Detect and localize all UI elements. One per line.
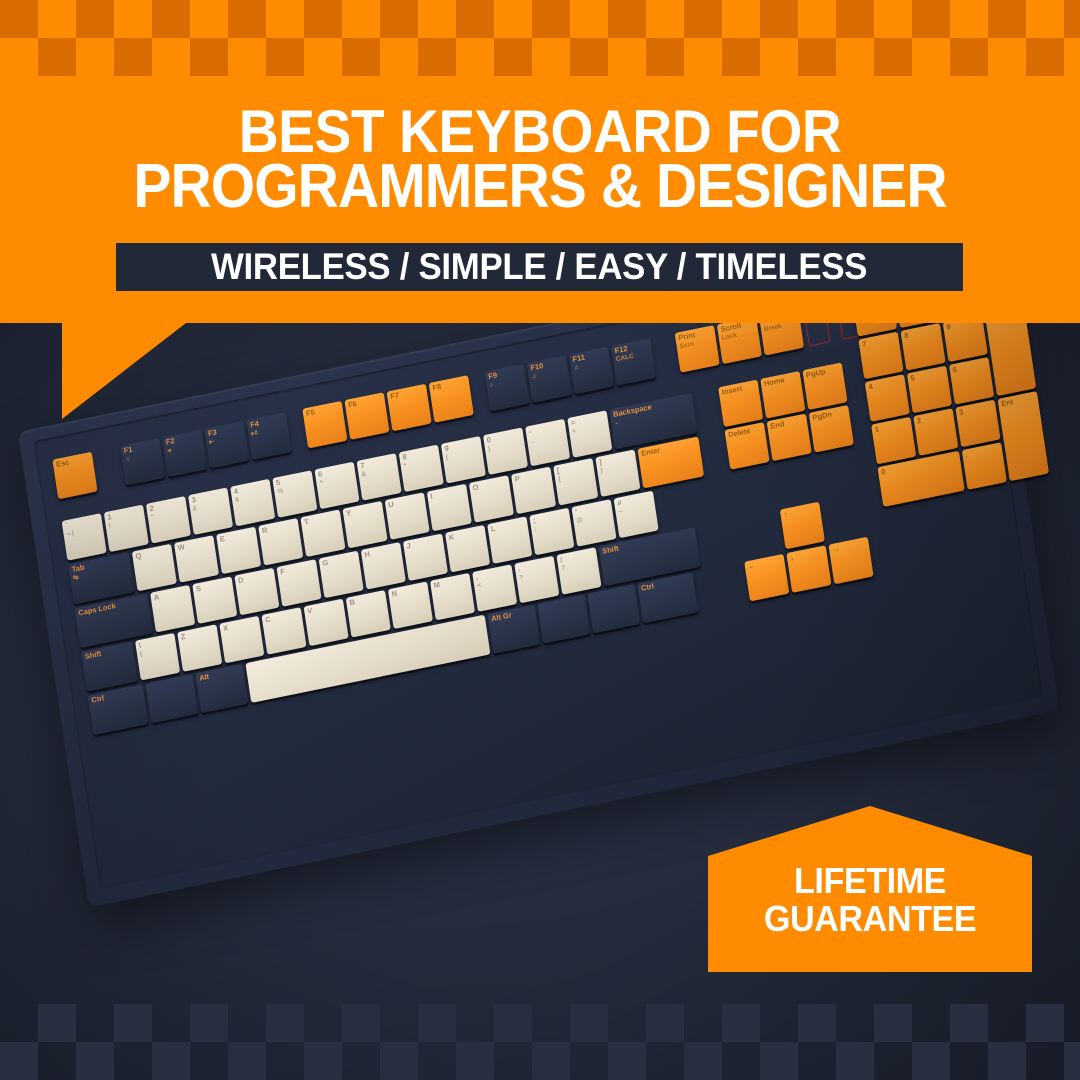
keycap-sublabel: ↹ bbox=[73, 572, 87, 582]
keycap-e[interactable]: E bbox=[216, 527, 261, 575]
keycap-sublabel: ! bbox=[108, 522, 113, 530]
keycap-sublabel: ^ bbox=[319, 479, 324, 487]
keycap-print[interactable]: PrintScrn bbox=[675, 325, 720, 373]
keycap--[interactable]: .> bbox=[514, 556, 559, 604]
keycap-label: = bbox=[570, 418, 576, 428]
keycap-q[interactable]: Q bbox=[132, 544, 177, 592]
keycap-label: 0 bbox=[881, 467, 886, 477]
keycap-label: Esc bbox=[56, 457, 70, 469]
keycap-sublabel: $ bbox=[235, 496, 240, 504]
keycap-f7[interactable]: F7 bbox=[387, 384, 432, 432]
keycap-numpad-3[interactable]: 3 bbox=[955, 400, 1000, 448]
keycap-label: T bbox=[303, 517, 309, 527]
keycap-label: V bbox=[307, 606, 313, 616]
keycap-sublabel: ( bbox=[445, 453, 450, 461]
keycap-numpad--[interactable]: . bbox=[962, 442, 1007, 490]
keycap-4[interactable]: 4$ bbox=[230, 479, 275, 527]
keycap--[interactable]: \| bbox=[135, 633, 180, 681]
keycap-label: 5 bbox=[910, 373, 915, 383]
keycap-label: 4 bbox=[868, 382, 873, 392]
keycap-7[interactable]: 7& bbox=[357, 453, 402, 501]
keycap-sublabel: ◂· bbox=[167, 446, 177, 455]
keycap-sublabel: < bbox=[477, 581, 482, 589]
keycap-arrow-3[interactable]: → bbox=[828, 537, 873, 585]
keycap-numpad-7[interactable]: 7 bbox=[858, 332, 903, 380]
keycap-label: . bbox=[517, 564, 520, 573]
keycap-label: G bbox=[322, 558, 329, 568]
keycap-label: Ctrl bbox=[640, 581, 654, 592]
keycap-label: # bbox=[617, 498, 622, 508]
keycap-sublabel: + bbox=[572, 427, 577, 435]
keycap-label: 2 bbox=[149, 504, 154, 514]
keycap-label: E bbox=[219, 534, 225, 544]
keycap-label: Z bbox=[180, 632, 186, 642]
keycap-label: Enter bbox=[641, 445, 661, 458]
keycap-label: , bbox=[475, 572, 478, 581]
keycap-y[interactable]: Y bbox=[342, 501, 387, 549]
keycap-label: Delete bbox=[728, 426, 751, 439]
keycap-f12[interactable]: F12CALC bbox=[611, 338, 656, 386]
badge-line-1: LIFETIME bbox=[716, 862, 1024, 900]
keycap-label: F bbox=[280, 567, 286, 577]
keycap-sublabel: ♫ bbox=[531, 371, 545, 381]
keycap-sublabel: & bbox=[361, 470, 367, 478]
keycap-label: Q bbox=[135, 551, 142, 561]
keycap-sublabel: * bbox=[403, 462, 408, 470]
keycap-h[interactable]: H bbox=[361, 542, 406, 590]
page-title: BEST KEYBOARD FOR PROGRAMMERS & DESIGNER bbox=[43, 104, 1037, 214]
keycap-label: ↑ bbox=[783, 509, 788, 519]
keycap-m[interactable]: M bbox=[430, 573, 475, 621]
speech-bubble-tail bbox=[0, 323, 260, 433]
keycap--[interactable]: #~ bbox=[614, 491, 659, 539]
keycap-label: 9 bbox=[444, 443, 449, 453]
keycap-label: ← bbox=[747, 561, 756, 571]
keycap-label: S bbox=[195, 584, 201, 594]
keycap-label: ' bbox=[575, 507, 578, 516]
keycap-label: Ctrl bbox=[91, 693, 105, 704]
keycap-label: ↓ bbox=[789, 553, 794, 563]
keycap-3[interactable]: 3£ bbox=[188, 487, 233, 535]
keycap-label: / bbox=[559, 555, 562, 564]
keycap-label: 6 bbox=[318, 469, 323, 479]
keycap-sublabel: @ bbox=[576, 516, 583, 525]
keycap-label: [ bbox=[556, 466, 560, 475]
keycap-label: F6 bbox=[348, 399, 358, 410]
keycap-sublabel: ) bbox=[487, 444, 492, 452]
keycap-t[interactable]: T bbox=[300, 509, 345, 557]
keycap-insert[interactable]: Insert bbox=[718, 380, 763, 428]
keycap-u[interactable]: U bbox=[385, 492, 430, 540]
keycap-label: 2 bbox=[916, 416, 921, 426]
keycap-f[interactable]: F bbox=[276, 559, 321, 607]
keycap-arrow-2[interactable]: ↓ bbox=[786, 545, 831, 593]
keycap-i[interactable]: I bbox=[427, 484, 472, 532]
keycap--[interactable]: `¬ | bbox=[62, 513, 107, 561]
keycap-label: PgUp bbox=[806, 367, 827, 380]
keycap-sublabel: ~ bbox=[618, 508, 623, 516]
keycap-label: K bbox=[448, 532, 455, 542]
keycap-r[interactable]: R bbox=[258, 518, 303, 566]
keycap-label: 4 bbox=[233, 486, 238, 496]
keycap-sublabel: > bbox=[519, 573, 524, 581]
keycap-label: ] bbox=[598, 457, 602, 466]
keycap-label: X bbox=[222, 623, 228, 633]
keycap-x[interactable]: X bbox=[219, 616, 264, 664]
keycap-label: Home bbox=[763, 375, 785, 388]
keycap-label: 1 bbox=[874, 424, 879, 434]
keycap-label: 6 bbox=[952, 365, 957, 375]
keycap-g[interactable]: G bbox=[319, 551, 364, 599]
keycap-pgdn[interactable]: PgDn bbox=[809, 405, 854, 453]
keycap-s[interactable]: S bbox=[192, 576, 237, 624]
keycap--[interactable]: /? bbox=[556, 547, 601, 595]
keycap-f9[interactable]: F9♪ bbox=[485, 364, 530, 412]
keycap-sublabel: ¬ | bbox=[66, 530, 74, 539]
title-line-1: BEST KEYBOARD FOR bbox=[43, 104, 1037, 159]
keycap-label: 8 bbox=[402, 452, 407, 462]
keycap-label: Alt bbox=[199, 672, 210, 683]
keycap-d[interactable]: D bbox=[234, 568, 279, 616]
keycap-f11[interactable]: F11♬ bbox=[569, 347, 614, 395]
keycap-sublabel: : bbox=[534, 525, 538, 533]
keycap-label: → bbox=[832, 544, 841, 554]
keycap-arrow-0[interactable]: ↑ bbox=[780, 502, 825, 550]
keycap--[interactable]: ;: bbox=[529, 508, 574, 556]
keycap-label: \ bbox=[138, 641, 141, 650]
keycap--[interactable]: [{ bbox=[553, 458, 598, 506]
keycap-label: ` bbox=[65, 521, 69, 530]
keycap-p[interactable]: P bbox=[511, 467, 556, 515]
keycap-label: ; bbox=[532, 516, 536, 525]
keycap-0[interactable]: 0) bbox=[483, 427, 528, 475]
keycap-c[interactable]: C bbox=[261, 607, 306, 655]
keycap-5[interactable]: 5% bbox=[272, 470, 317, 518]
keycap-label: Insert bbox=[721, 384, 742, 397]
keycap-label: F5 bbox=[305, 407, 315, 418]
keycap-scroll[interactable]: ScrollLock bbox=[717, 317, 762, 365]
keycap-z[interactable]: Z bbox=[177, 624, 222, 672]
keycap-sublabel: _ bbox=[530, 436, 535, 444]
keycap-label: F8 bbox=[432, 382, 442, 393]
keycap-label: R bbox=[261, 525, 268, 535]
keycap-v[interactable]: V bbox=[304, 599, 349, 647]
keycap-label: 8 bbox=[904, 331, 909, 341]
keycap-home[interactable]: Home bbox=[760, 371, 805, 419]
keycap-sublabel: | bbox=[140, 650, 143, 658]
keycap-numpad-6[interactable]: 6 bbox=[949, 357, 994, 405]
keycap-label: End bbox=[770, 419, 785, 431]
keycap-f6[interactable]: F6 bbox=[344, 392, 389, 440]
subtitle-text: WIRELESS / SIMPLE / EASY / TIMELESS bbox=[211, 246, 867, 288]
keycap-numpad-1[interactable]: 1 bbox=[871, 417, 916, 465]
keycap-label: D bbox=[237, 575, 244, 585]
keycap--[interactable]: ]} bbox=[595, 449, 640, 497]
keycap-label: Shift bbox=[84, 649, 102, 661]
keycap-8[interactable]: 8* bbox=[399, 445, 444, 493]
keycap--[interactable]: =+ bbox=[567, 410, 612, 458]
keycap-label: M bbox=[433, 580, 440, 590]
keycap-esc[interactable]: Esc bbox=[52, 452, 97, 500]
keycap-label: 7 bbox=[862, 339, 867, 349]
keycap-end[interactable]: End bbox=[767, 414, 812, 462]
keycap-a[interactable]: A bbox=[150, 585, 195, 633]
keycap-9[interactable]: 9( bbox=[441, 436, 486, 484]
lifetime-guarantee-badge[interactable]: LIFETIME GUARANTEE bbox=[708, 806, 1032, 972]
keycap-f8[interactable]: F8 bbox=[429, 375, 474, 423]
keycap-label: H bbox=[364, 549, 371, 559]
keycap-l[interactable]: L bbox=[487, 516, 532, 564]
keycap-arrow-1[interactable]: ← bbox=[744, 554, 789, 602]
keycap-w[interactable]: W bbox=[174, 535, 219, 583]
keycap-numpad-4[interactable]: 4 bbox=[865, 374, 910, 422]
keycap-numpad-2[interactable]: 2 bbox=[913, 408, 958, 456]
keycap-6[interactable]: 6^ bbox=[314, 462, 359, 510]
keycap-label: L bbox=[490, 524, 496, 534]
keycap-sublabel: } bbox=[600, 467, 604, 475]
keycap-sublabel: { bbox=[558, 475, 562, 483]
keycap-label: Alt Gr bbox=[491, 610, 513, 623]
keycap-o[interactable]: O bbox=[469, 475, 514, 523]
keycap-f2[interactable]: F2◂· bbox=[162, 429, 207, 477]
keycap-label: 5 bbox=[275, 478, 280, 488]
keycap-label: 1 bbox=[107, 512, 112, 522]
keycap-label: A bbox=[153, 592, 160, 602]
keycap-sublabel: % bbox=[277, 487, 284, 496]
keycap-label: 3 bbox=[191, 495, 196, 505]
keycap-sublabel: ♬ bbox=[573, 362, 586, 372]
keycap-label: I bbox=[430, 492, 433, 501]
subtitle-bar: WIRELESS / SIMPLE / EASY / TIMELESS bbox=[116, 243, 963, 291]
badge-line-2: GUARANTEE bbox=[716, 900, 1024, 938]
keycap-f5[interactable]: F5 bbox=[302, 401, 347, 449]
keycap-label: 3 bbox=[959, 407, 964, 417]
keycap-label: J bbox=[406, 541, 411, 551]
keycap-label: . bbox=[965, 450, 968, 459]
keycap-label: 7 bbox=[360, 461, 365, 471]
keycap-j[interactable]: J bbox=[403, 533, 448, 581]
keycap-n[interactable]: N bbox=[388, 581, 433, 629]
keycap-sublabel: ▸· bbox=[209, 437, 219, 446]
poster-canvas: 🎙 ⍺ ⇳ ⇳ EscF1☼F2◂·F3▸·F4▸‖F5F6F7F8F9♪F10… bbox=[0, 0, 1080, 1080]
keycap-label: C bbox=[265, 614, 272, 624]
keycap-sublabel: £ bbox=[193, 504, 198, 512]
keycap-2[interactable]: 2" bbox=[146, 496, 191, 544]
keycap-sublabel: " bbox=[150, 513, 155, 521]
title-line-2: PROGRAMMERS & DESIGNER bbox=[43, 159, 1037, 214]
keycap-label: P bbox=[514, 474, 520, 484]
keycap-1[interactable]: 1! bbox=[104, 505, 149, 553]
keycap-label: F7 bbox=[390, 390, 400, 401]
keycap-label: - bbox=[528, 427, 532, 436]
keycap--[interactable]: -_ bbox=[525, 419, 570, 467]
keycap-k[interactable]: K bbox=[445, 525, 490, 573]
keycap-numpad-8[interactable]: 8 bbox=[901, 323, 946, 371]
keycap-label: N bbox=[391, 589, 398, 599]
keycap-label: B bbox=[349, 597, 356, 607]
keycap-b[interactable]: B bbox=[346, 590, 391, 638]
keycap-label: U bbox=[388, 500, 395, 510]
keycap-f10[interactable]: F10♫ bbox=[527, 355, 572, 403]
keycap-label: PgDn bbox=[812, 409, 833, 422]
keycap-numpad-5[interactable]: 5 bbox=[907, 366, 952, 414]
keycap-label: Ent bbox=[1001, 397, 1014, 408]
keycap-label: W bbox=[177, 542, 185, 552]
keycap-label: O bbox=[472, 482, 479, 492]
keycap-label: 9 bbox=[946, 322, 951, 332]
keycap-label: Y bbox=[346, 508, 352, 518]
keycap-f1[interactable]: F1☼ bbox=[120, 438, 165, 486]
keycap-sublabel: ? bbox=[561, 564, 566, 572]
keycap-sublabel: ♪ bbox=[489, 380, 499, 389]
keycap-pgup[interactable]: PgUp bbox=[802, 362, 847, 410]
keycap-label: Shift bbox=[602, 544, 620, 556]
keycap--[interactable]: '@ bbox=[571, 499, 616, 547]
keycap-label: 0 bbox=[486, 435, 491, 445]
keycap-delete[interactable]: Delete bbox=[725, 422, 770, 470]
badge-text: LIFETIME GUARANTEE bbox=[708, 862, 1032, 938]
keycap-sublabel: ☼ bbox=[125, 454, 135, 463]
keycap--[interactable]: ,< bbox=[472, 564, 517, 612]
